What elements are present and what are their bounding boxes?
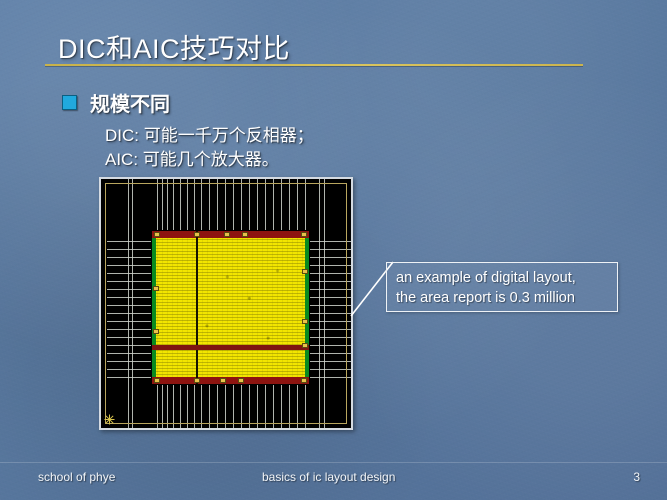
callout-line-1: an example of digital layout, [396, 268, 608, 288]
power-rail-right [305, 231, 309, 384]
title-divider-rule [45, 64, 583, 66]
footer-page-number: 3 [633, 470, 640, 484]
pad-ring-top [152, 231, 309, 238]
layout-canvas [101, 179, 351, 428]
core-divider-horizontal [152, 345, 309, 350]
corner-pad [242, 232, 248, 237]
footer-course: basics of ic layout design [262, 470, 395, 484]
corner-pad [194, 232, 200, 237]
edge-pad [302, 343, 308, 348]
callout-textbox: an example of digital layout, the area r… [386, 262, 618, 312]
corner-pad [301, 378, 307, 383]
corner-pad [154, 378, 160, 383]
sub-line-dic: DIC: 可能一千万个反相器； [105, 121, 314, 146]
footer-school: school of phye [38, 470, 115, 484]
corner-pad [238, 378, 244, 383]
square-bullet-icon [62, 95, 77, 110]
origin-marker-icon [104, 414, 115, 425]
sub-line-aic: AIC: 可能几个放大器。 [105, 145, 279, 170]
edge-pad [153, 329, 159, 334]
bullet-heading: 规模不同 [90, 88, 170, 117]
callout-line-2: the area report is 0.3 million [396, 288, 608, 308]
slide-canvas: DIC和AIC技巧对比 规模不同 DIC: 可能一千万个反相器； AIC: 可能… [0, 0, 667, 500]
edge-pad [302, 319, 308, 324]
layout-screenshot-figure [99, 177, 353, 430]
edge-pad [153, 286, 159, 291]
corner-pad [220, 378, 226, 383]
corner-pad [301, 232, 307, 237]
footer-divider [0, 462, 667, 463]
power-rail-left [152, 231, 156, 384]
pad-ring-bottom [152, 377, 309, 384]
core-area [152, 231, 309, 384]
bullet-row: 规模不同 [62, 88, 170, 117]
edge-pad [302, 269, 308, 274]
corner-pad [224, 232, 230, 237]
core-divider-vertical [196, 231, 198, 384]
via-speckle-texture [152, 231, 309, 384]
slide-title: DIC和AIC技巧对比 [58, 27, 290, 66]
corner-pad [194, 378, 200, 383]
corner-pad [154, 232, 160, 237]
